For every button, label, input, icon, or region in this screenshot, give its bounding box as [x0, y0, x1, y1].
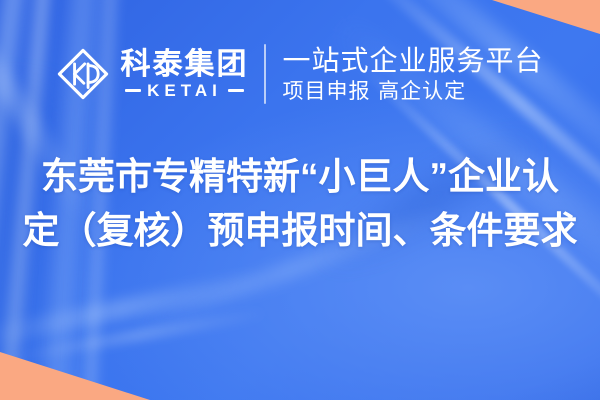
brand-name-en-row: KETAI	[125, 82, 244, 99]
brand-wordmark: 科泰集团 KETAI	[120, 50, 248, 99]
brand-name-en: KETAI	[147, 82, 222, 99]
ketai-diamond-monogram-icon	[56, 47, 110, 101]
brand-lockup[interactable]: 科泰集团 KETAI	[56, 47, 248, 101]
tagline-block: 一站式企业服务平台 项目申报 高企认定	[282, 46, 543, 101]
brand-name-cn: 科泰集团	[120, 50, 248, 80]
title-line-2: 定（复核）预申报时间、条件要求	[0, 204, 600, 258]
promo-banner: 科泰集团 KETAI 一站式企业服务平台 项目申报 高企认定 东莞市专精特新“小…	[0, 0, 600, 400]
tagline-primary: 一站式企业服务平台	[282, 46, 543, 75]
header-divider	[264, 44, 266, 104]
title-line-1: 东莞市专精特新“小巨人”企业认	[0, 150, 600, 204]
banner-title: 东莞市专精特新“小巨人”企业认 定（复核）预申报时间、条件要求	[0, 150, 600, 258]
dash-left-icon	[125, 89, 141, 92]
tagline-secondary: 项目申报 高企认定	[282, 80, 543, 102]
dash-right-icon	[228, 89, 244, 92]
banner-header: 科泰集团 KETAI 一站式企业服务平台 项目申报 高企认定	[0, 38, 600, 110]
